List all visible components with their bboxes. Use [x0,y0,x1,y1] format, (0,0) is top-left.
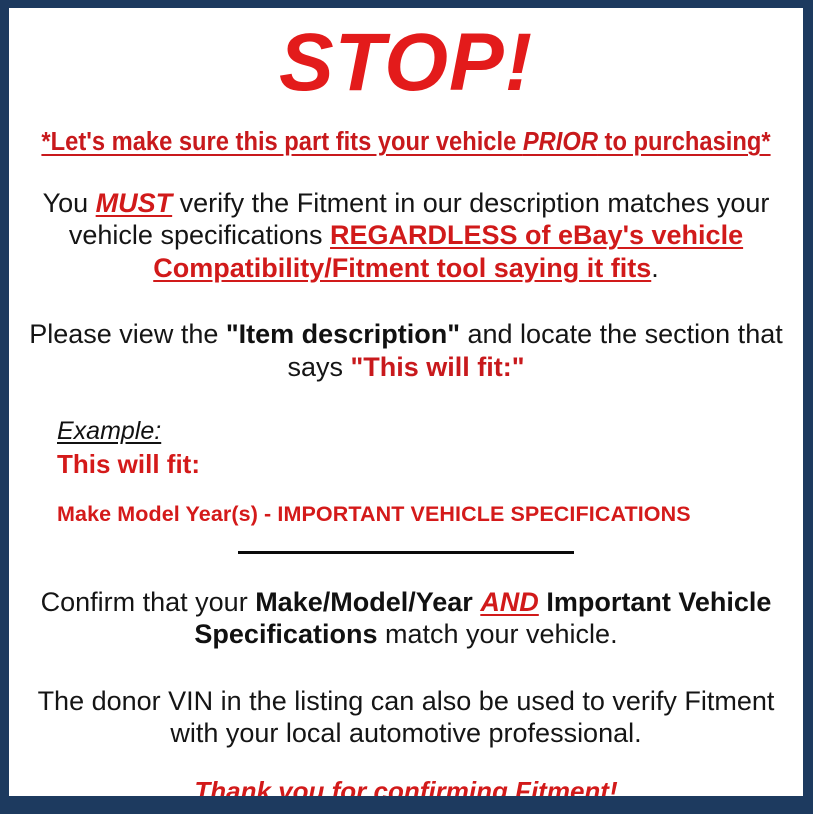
tagline-suffix: to purchasing* [598,128,771,156]
notice-sheet: STOP! *Let's make sure this part fits yo… [9,8,803,796]
closing-message: Thank you for confirming Fitment! [9,776,803,796]
divider-rule [238,551,574,554]
paragraph-must: You MUST verify the Fitment in our descr… [9,187,803,284]
item-description-emphasis: "Item description" [226,319,460,349]
confirm-part1: Confirm that your [41,587,256,617]
paragraph-item-description: Please view the "Item description" and l… [9,318,803,383]
divider [9,551,803,554]
page-title: STOP! [9,20,803,106]
example-label-row: Example: [57,417,803,446]
view-part1: Please view the [29,319,226,349]
example-label: Example: [57,417,161,446]
must-part3: . [651,253,659,283]
example-block: Example: This will fit: Make Model Year(… [9,417,803,527]
tagline-prefix: *Let's make sure this part fits your veh… [41,128,522,156]
paragraph-confirm: Confirm that your Make/Model/Year AND Im… [9,586,803,651]
fitment-notice-page: STOP! *Let's make sure this part fits yo… [0,0,813,814]
make-model-year-emphasis: Make/Model/Year [255,587,473,617]
confirm-part4: match your vehicle. [377,619,617,649]
example-fit-heading: This will fit: [57,449,803,480]
example-spec-line: Make Model Year(s) - IMPORTANT VEHICLE S… [57,502,803,527]
tagline-emphasis-prior: PRIOR [523,128,598,156]
tagline: *Let's make sure this part fits your veh… [37,128,775,157]
this-will-fit-emphasis: "This will fit:" [350,352,524,382]
paragraph-donor-vin: The donor VIN in the listing can also be… [9,685,803,750]
must-emphasis: MUST [96,188,173,218]
must-part1: You [43,188,96,218]
and-emphasis: AND [480,587,539,617]
